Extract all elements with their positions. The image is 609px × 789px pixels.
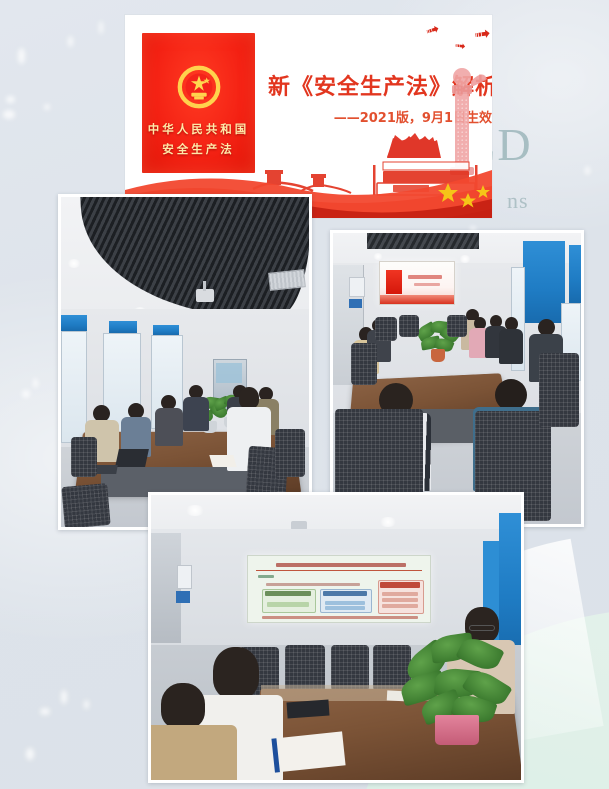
cabinet-glass <box>216 363 242 383</box>
slide-box-red-row <box>382 598 418 602</box>
wall-sign-blue <box>349 299 362 308</box>
paper-speckle <box>40 708 50 715</box>
person <box>155 395 183 445</box>
slide-box-blue-header <box>323 591 367 596</box>
paper-speckle <box>585 166 590 175</box>
poster-subtitle: ——2021版，9月1日生效 <box>268 107 492 126</box>
poster-title: 新《安全生产法》解析 <box>268 69 490 101</box>
window-blind <box>569 245 581 303</box>
book-title-line-2: 安全生产法 <box>142 141 255 157</box>
window-blind <box>523 241 565 323</box>
bird-icon: ➟ <box>473 23 492 45</box>
slide-text-line <box>266 583 360 586</box>
safety-law-poster: ➟ ➟ ➟ 中华人民共和国 安全生产法 新《安全生产法》解析 ——2021版，9… <box>125 15 492 218</box>
window-blind <box>61 315 87 331</box>
paper-speckle <box>61 690 67 704</box>
office-chair <box>61 483 110 527</box>
slide-title-line <box>276 563 406 567</box>
paper-speckle <box>18 48 25 64</box>
slide-box-red-row <box>382 604 418 608</box>
paper-speckle <box>68 36 73 47</box>
presentation-photo <box>148 492 524 783</box>
bird-icon: ➟ <box>454 38 467 52</box>
projection-screen <box>379 261 455 305</box>
law-book-cover: 中华人民共和国 安全生产法 <box>142 33 255 173</box>
meeting-room-photo-wide <box>58 194 312 530</box>
person <box>499 317 523 363</box>
slide-bullet <box>258 575 274 578</box>
tablet-device <box>286 700 329 719</box>
book-title-line-1: 中华人民共和国 <box>142 121 255 137</box>
laptop <box>115 449 149 467</box>
wall-sign-blue <box>176 591 190 603</box>
office-chair <box>399 315 419 337</box>
person <box>183 385 209 431</box>
window-blind <box>153 325 179 335</box>
office-chair <box>71 437 97 477</box>
slide-box-blue-row <box>325 601 365 605</box>
projection-screen <box>247 555 431 623</box>
downlight <box>379 517 397 527</box>
national-emblem-icon <box>175 63 223 111</box>
paper-speckle <box>6 96 15 103</box>
paper-document <box>209 455 236 467</box>
slide-footer-line <box>262 616 418 619</box>
projected-wave <box>380 295 454 304</box>
slide-title-rule <box>256 570 422 571</box>
slide-box-blue-row <box>325 606 365 610</box>
downlight <box>373 253 383 260</box>
slide-box-red-row <box>382 592 418 596</box>
wall-device <box>177 565 192 589</box>
poster-collage-page: OLD ns ➟ ➟ ➟ 中华人民共和国 安全生产法 新《安全生产法》解析 ——… <box>0 0 609 789</box>
office-chair <box>539 353 579 427</box>
window <box>61 331 87 443</box>
training-session-photo <box>330 230 584 527</box>
projected-law-book <box>386 270 402 294</box>
paper-speckle <box>44 104 50 110</box>
wall-notice <box>349 277 365 297</box>
person-foreground-tan <box>151 683 237 780</box>
ceiling-panel <box>367 233 479 249</box>
office-chair <box>447 315 467 337</box>
slide-box-red-header <box>380 582 420 588</box>
paper-speckle <box>26 748 34 760</box>
foreground-plant <box>401 631 513 747</box>
person <box>121 403 151 455</box>
paper-speckle <box>3 110 15 119</box>
window-blind <box>109 321 137 333</box>
projected-subtitle-line <box>414 283 440 286</box>
projector-mount <box>203 281 206 291</box>
ceiling-ac-vent <box>268 269 306 291</box>
plant-pot <box>435 715 479 745</box>
office-chair <box>375 317 397 341</box>
office-chair <box>351 343 377 385</box>
paper-speckle <box>22 390 30 398</box>
slide-box-green-row <box>267 602 309 607</box>
projected-title-line <box>408 275 442 279</box>
paper-speckle <box>84 700 89 709</box>
bird-icon: ➟ <box>423 20 441 40</box>
downlight <box>459 255 471 263</box>
slide-box-green-header <box>265 591 311 596</box>
downlight <box>185 505 205 516</box>
office-chair <box>275 429 305 477</box>
downlight <box>67 259 81 268</box>
paper-speckle <box>99 21 103 34</box>
paper-speckle <box>33 378 38 388</box>
